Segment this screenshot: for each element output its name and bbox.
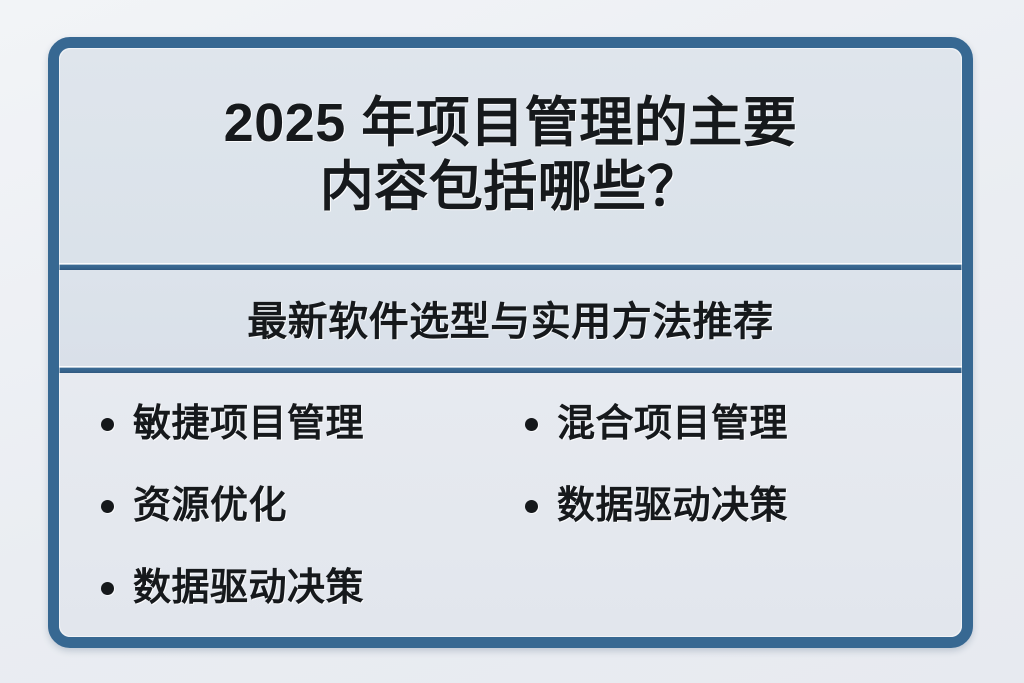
slide-canvas: 2025 年项目管理的主要 内容包括哪些？ 最新软件选型与实用方法推荐 敏捷项目…: [0, 0, 1024, 683]
page-subtitle: 最新软件选型与实用方法推荐: [247, 289, 774, 347]
divider-title-subtitle: [59, 263, 962, 270]
bullet-label: 混合项目管理: [557, 405, 788, 443]
bullet-label: 敏捷项目管理: [133, 405, 364, 443]
list-item: 资源优化: [101, 487, 511, 525]
card-bullets-section: 敏捷项目管理 资源优化 数据驱动决策 混合项目管理 数据驱: [59, 373, 962, 637]
list-item: 混合项目管理: [525, 405, 932, 443]
bullet-dot-icon: [101, 418, 114, 431]
bullet-dot-icon: [525, 418, 538, 431]
bullet-dot-icon: [101, 500, 114, 513]
page-title-line-1: 2025 年项目管理的主要: [224, 92, 798, 156]
bullet-label: 数据驱动决策: [133, 569, 364, 607]
card-title-section: 2025 年项目管理的主要 内容包括哪些？: [59, 48, 962, 263]
bullet-column-right: 混合项目管理 数据驱动决策: [511, 399, 932, 525]
bullet-label: 资源优化: [133, 487, 287, 525]
bullet-label: 数据驱动决策: [557, 487, 788, 525]
bullet-dot-icon: [101, 582, 114, 595]
card-subtitle-section: 最新软件选型与实用方法推荐: [59, 270, 962, 366]
bullet-dot-icon: [525, 500, 538, 513]
list-item: 数据驱动决策: [101, 569, 511, 607]
info-card: 2025 年项目管理的主要 内容包括哪些？ 最新软件选型与实用方法推荐 敏捷项目…: [48, 37, 973, 648]
bullet-column-left: 敏捷项目管理 资源优化 数据驱动决策: [101, 399, 511, 607]
list-item: 数据驱动决策: [525, 487, 932, 525]
divider-subtitle-bullets: [59, 366, 962, 373]
list-item: 敏捷项目管理: [101, 405, 511, 443]
page-title-line-2: 内容包括哪些？: [320, 156, 702, 220]
